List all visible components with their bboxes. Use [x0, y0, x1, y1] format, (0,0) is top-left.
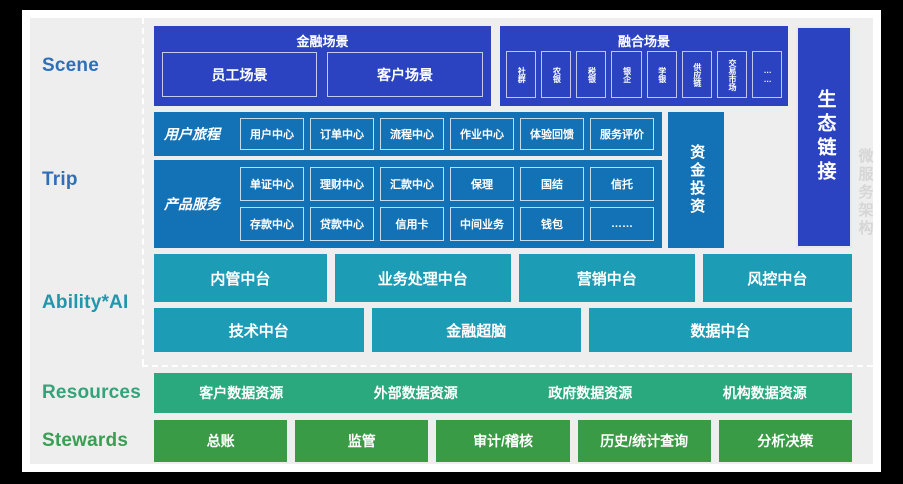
product-item-r1-3[interactable]: 保理 [450, 167, 514, 201]
scene-item-employee[interactable]: 员工场景 [162, 52, 317, 97]
image-frame: Scene Trip Ability*AI Resources Stewards… [22, 10, 881, 472]
vertical-dashed-divider [142, 18, 144, 365]
steward-item-0[interactable]: 总账 [154, 420, 287, 462]
ability-row-2: 技术中台 金融超脑 数据中台 [154, 308, 852, 352]
product-item-r1-4[interactable]: 国结 [520, 167, 584, 201]
ability-item-business[interactable]: 业务处理中台 [335, 254, 511, 302]
fusion-item-more[interactable]: …… [752, 51, 782, 98]
fusion-item-4[interactable]: 学银 [647, 51, 677, 98]
ability-item-data[interactable]: 数据中台 [589, 308, 852, 352]
scene-fusion-title: 融合场景 [500, 31, 788, 50]
ability-item-marketing[interactable]: 营销中台 [519, 254, 695, 302]
fusion-item-0[interactable]: 社群 [506, 51, 536, 98]
journey-item-4[interactable]: 体验回馈 [520, 118, 584, 150]
fusion-item-6[interactable]: 交易市场 [717, 51, 747, 98]
ability-row-1: 内管中台 业务处理中台 营销中台 风控中台 [154, 254, 852, 302]
journey-item-0[interactable]: 用户中心 [240, 118, 304, 150]
product-item-r2-2[interactable]: 信用卡 [380, 207, 444, 241]
trip-product-group[interactable]: 产品服务 单证中心 理财中心 汇款中心 保理 国结 信托 存款中心 贷款中心 信… [154, 160, 662, 248]
journey-item-2[interactable]: 流程中心 [380, 118, 444, 150]
trip-product-title: 产品服务 [164, 160, 220, 248]
stewards-row: 总账 监管 审计/稽核 历史/统计查询 分析决策 [154, 420, 852, 462]
steward-item-2[interactable]: 审计/稽核 [436, 420, 569, 462]
product-item-r1-0[interactable]: 单证中心 [240, 167, 304, 201]
layer-label-trip: Trip [30, 112, 142, 248]
microservice-architecture-label: 微服务架构 [854, 108, 876, 278]
steward-item-1[interactable]: 监管 [295, 420, 428, 462]
resource-item-0[interactable]: 客户数据资源 [154, 373, 329, 413]
product-item-r2-1[interactable]: 贷款中心 [310, 207, 374, 241]
scene-fusion-group[interactable]: 融合场景 社群 农银 税银 银企 学银 供应链 交易市场 …… [500, 26, 788, 106]
horizontal-dashed-divider [142, 365, 873, 367]
product-item-r2-more[interactable]: …… [590, 207, 654, 241]
ability-item-superbrain[interactable]: 金融超脑 [372, 308, 582, 352]
product-item-r1-5[interactable]: 信托 [590, 167, 654, 201]
journey-item-1[interactable]: 订单中心 [310, 118, 374, 150]
product-item-r2-3[interactable]: 中间业务 [450, 207, 514, 241]
journey-item-5[interactable]: 服务评价 [590, 118, 654, 150]
steward-item-3[interactable]: 历史/统计查询 [578, 420, 711, 462]
fusion-item-1[interactable]: 农银 [541, 51, 571, 98]
trip-journey-title: 用户旅程 [164, 112, 220, 156]
ability-item-risk[interactable]: 风控中台 [703, 254, 852, 302]
product-items-row1: 单证中心 理财中心 汇款中心 保理 国结 信托 [240, 167, 654, 201]
steward-item-4[interactable]: 分析决策 [719, 420, 852, 462]
product-items-row2: 存款中心 贷款中心 信用卡 中间业务 钱包 …… [240, 207, 654, 241]
fusion-item-3[interactable]: 银企 [611, 51, 641, 98]
product-item-r2-0[interactable]: 存款中心 [240, 207, 304, 241]
scene-fusion-items: 社群 农银 税银 银企 学银 供应链 交易市场 …… [506, 51, 782, 98]
ecosystem-link-block[interactable]: 生态链接 [796, 26, 852, 248]
ability-item-tech[interactable]: 技术中台 [154, 308, 364, 352]
trip-journey-items: 用户中心 订单中心 流程中心 作业中心 体验回馈 服务评价 [240, 118, 654, 150]
resource-item-2[interactable]: 政府数据资源 [503, 373, 678, 413]
fund-investment-block[interactable]: 资金投资 [668, 112, 724, 248]
product-item-r2-4[interactable]: 钱包 [520, 207, 584, 241]
layer-label-resources: Resources [30, 373, 142, 413]
architecture-diagram: Scene Trip Ability*AI Resources Stewards… [30, 18, 873, 464]
resource-item-1[interactable]: 外部数据资源 [329, 373, 504, 413]
product-item-r1-1[interactable]: 理财中心 [310, 167, 374, 201]
scene-item-customer[interactable]: 客户场景 [327, 52, 483, 97]
product-item-r1-2[interactable]: 汇款中心 [380, 167, 444, 201]
ability-item-internal-mgmt[interactable]: 内管中台 [154, 254, 327, 302]
journey-item-3[interactable]: 作业中心 [450, 118, 514, 150]
trip-journey-group[interactable]: 用户旅程 用户中心 订单中心 流程中心 作业中心 体验回馈 服务评价 [154, 112, 662, 156]
layer-label-ability: Ability*AI [30, 254, 142, 352]
fusion-item-2[interactable]: 税银 [576, 51, 606, 98]
scene-financial-title: 金融场景 [154, 31, 491, 50]
resource-item-3[interactable]: 机构数据资源 [678, 373, 853, 413]
resources-bar[interactable]: 客户数据资源 外部数据资源 政府数据资源 机构数据资源 [154, 373, 852, 413]
scene-financial-group[interactable]: 金融场景 员工场景 客户场景 [154, 26, 491, 106]
fusion-item-5[interactable]: 供应链 [682, 51, 712, 98]
layer-label-stewards: Stewards [30, 420, 142, 462]
layer-label-scene: Scene [30, 26, 142, 106]
